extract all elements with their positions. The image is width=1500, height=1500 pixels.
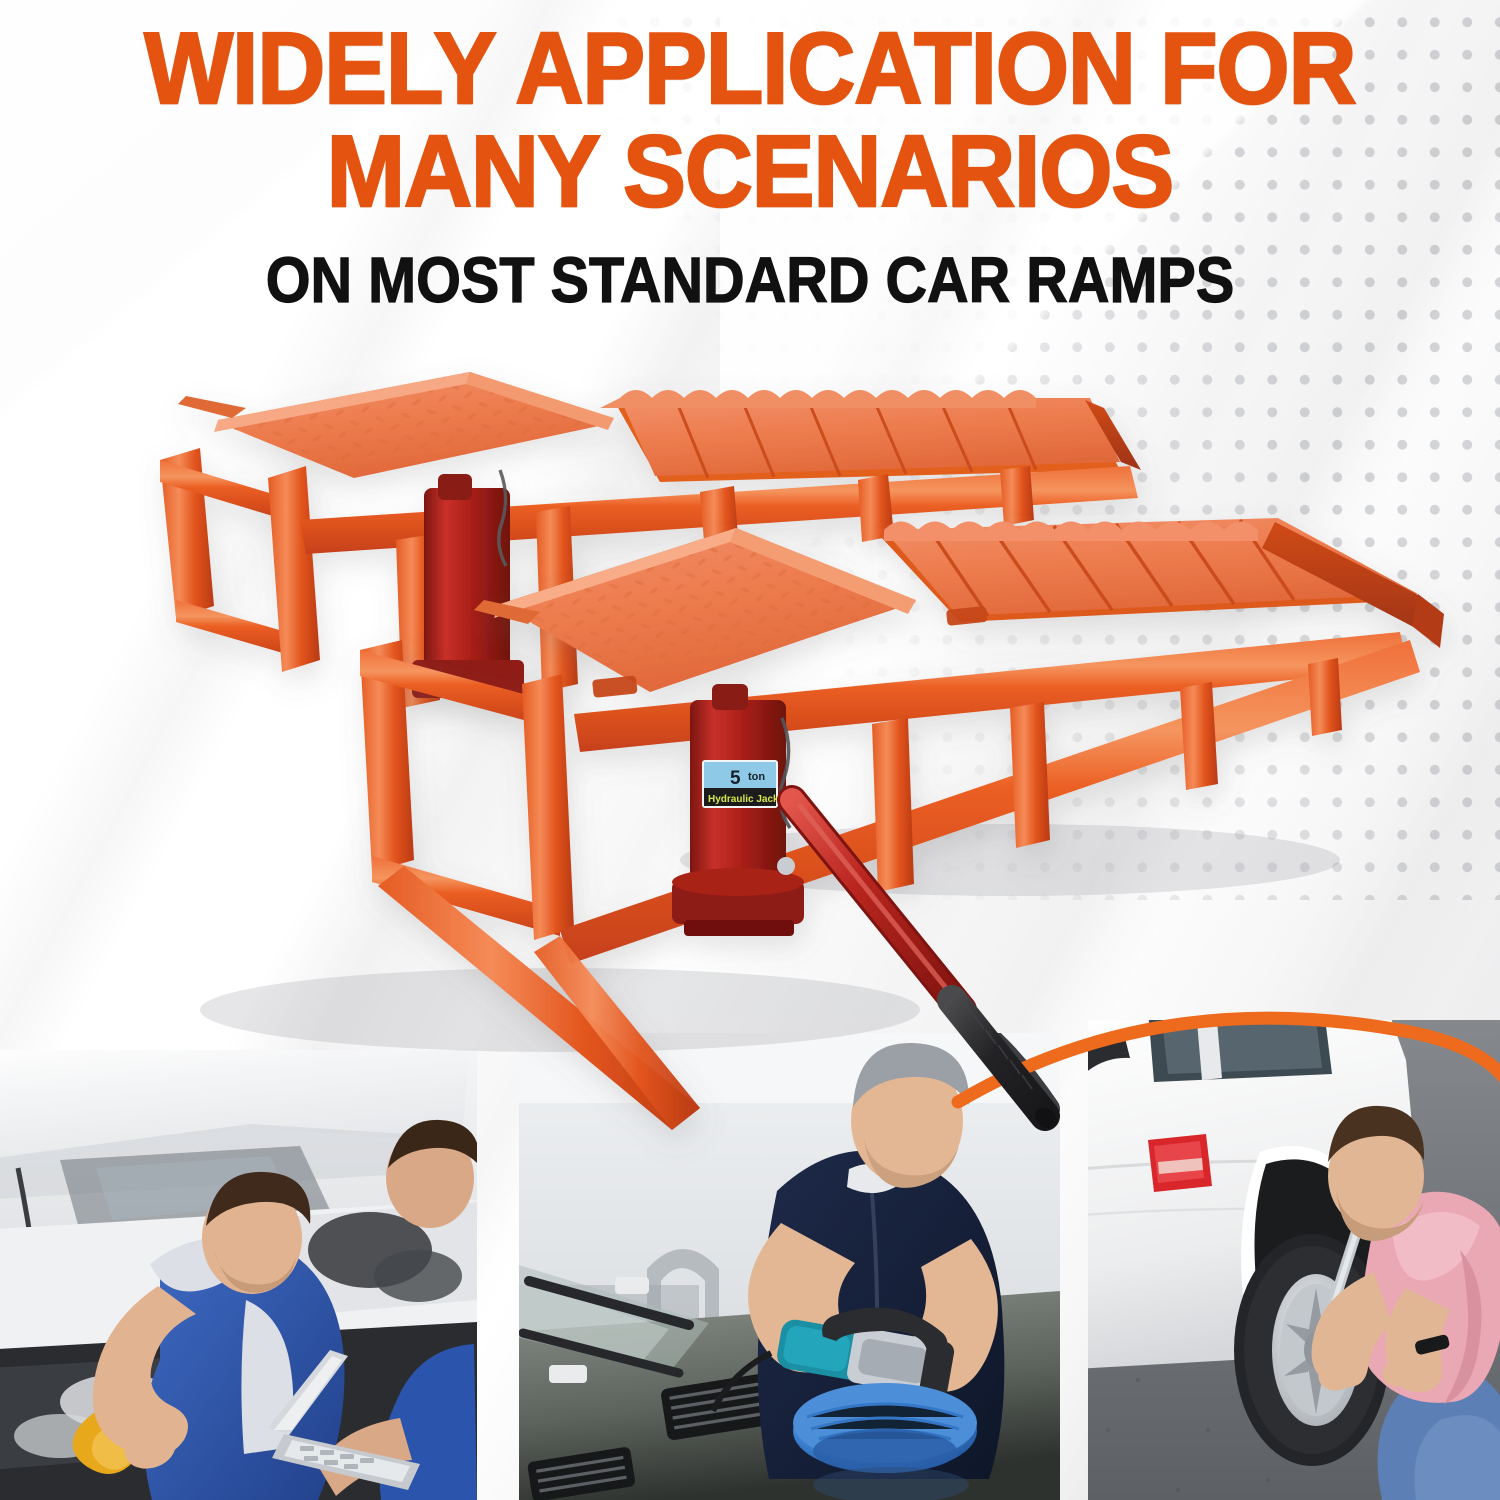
svg-text:Hydraulic Jack: Hydraulic Jack <box>708 794 779 805</box>
rear-ramp-incline <box>600 390 1141 482</box>
svg-text:5: 5 <box>730 768 741 789</box>
rear-frame-left <box>160 448 320 672</box>
subtitle: ON MOST STANDARD CAR RAMPS <box>75 248 1425 312</box>
jack-label: 5 ton Hydraulic Jack <box>702 760 779 808</box>
headline-block: WIDELY APPLICATION FOR MANY SCENARIOS ON… <box>0 0 1500 312</box>
rear-platform-diamond-plate <box>178 372 614 478</box>
headline-line-2: MANY SCENARIOS <box>53 125 1448 220</box>
front-ramp-incline <box>880 518 1444 648</box>
svg-text:ton: ton <box>748 771 765 783</box>
poster-canvas: WIDELY APPLICATION FOR MANY SCENARIOS ON… <box>0 0 1500 1500</box>
rear-hydraulic-jack <box>412 474 524 698</box>
headline-line-1: WIDELY APPLICATION FOR <box>53 22 1448 117</box>
